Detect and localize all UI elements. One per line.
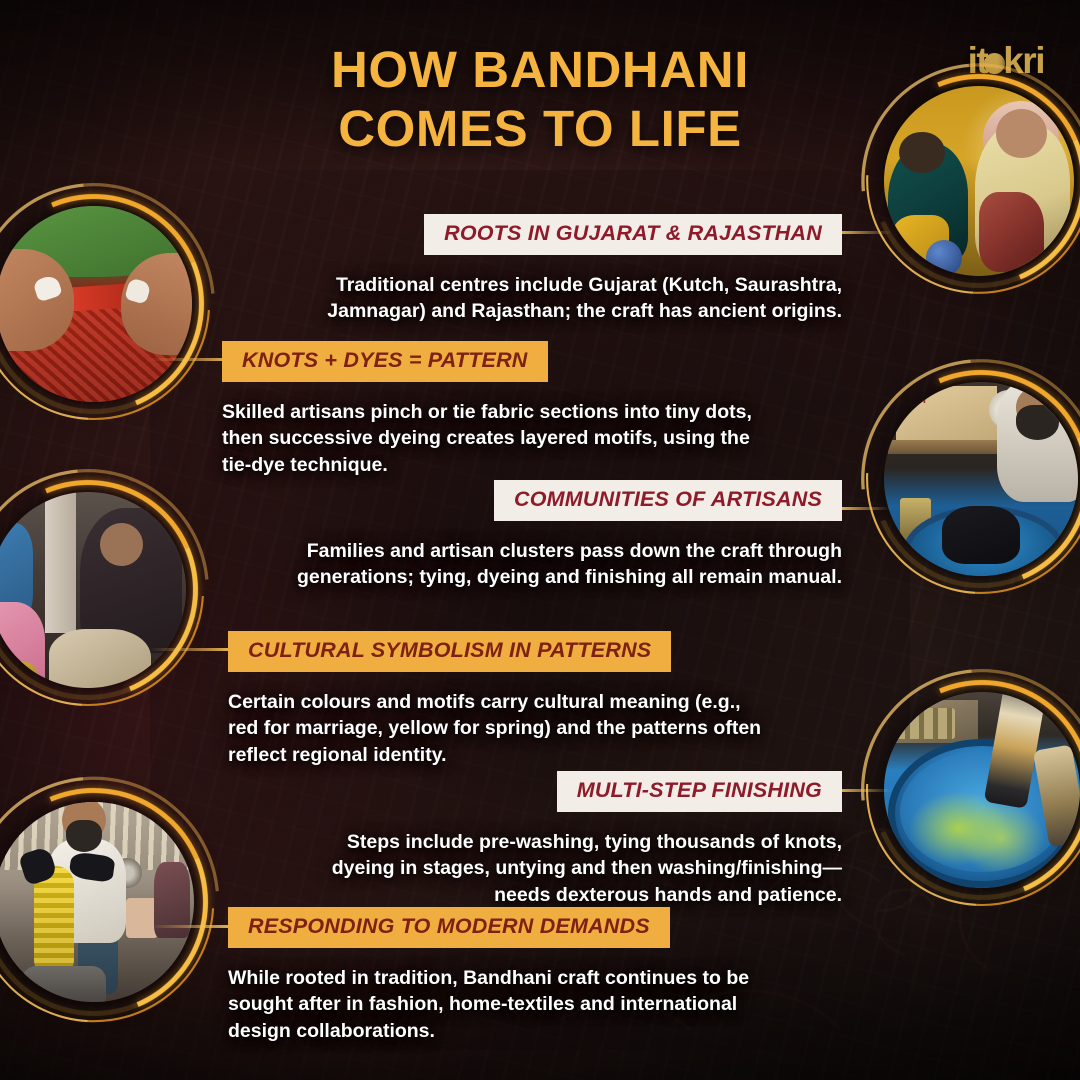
section-body-knots-dyes: Skilled artisans pinch or tie fabric sec… [222, 399, 762, 479]
connector-line-roots [836, 231, 892, 234]
brand-logo-text-after: kri [1003, 40, 1044, 81]
section-body-symbolism: Certain colours and motifs carry cultura… [228, 689, 768, 769]
section-body-communities: Families and artisan clusters pass down … [244, 538, 842, 591]
brand-logo[interactable]: itkri [968, 40, 1044, 82]
connector-line-knots [150, 358, 232, 361]
photo-man-blue-dye-tub: J. Y [884, 382, 1078, 576]
photo-women-tying-yellow [884, 86, 1074, 276]
photo-hands-tying-red [0, 206, 192, 402]
section-body-finishing: Steps include pre-washing, tying thousan… [300, 829, 842, 909]
section-body-roots: Traditional centres include Gujarat (Kut… [276, 272, 842, 325]
connector-line-symbolism [150, 648, 232, 651]
section-badge-finishing[interactable]: MULTI-STEP FINISHING [557, 771, 842, 812]
photo-man-dyeing-yellow [0, 802, 194, 1002]
photo-blue-dye-vat [884, 692, 1080, 888]
section-roots: ROOTS IN GUJARAT & RAJASTHAN Traditional… [276, 214, 842, 325]
section-finishing: MULTI-STEP FINISHING Steps include pre-w… [300, 771, 842, 908]
connector-line-modern [150, 925, 232, 928]
section-badge-modern-demands[interactable]: RESPONDING TO MODERN DEMANDS [228, 907, 670, 948]
section-body-modern-demands: While rooted in tradition, Bandhani craf… [228, 965, 788, 1045]
section-badge-roots[interactable]: ROOTS IN GUJARAT & RAJASTHAN [424, 214, 842, 255]
connector-line-communities [838, 507, 890, 510]
section-modern-demands: RESPONDING TO MODERN DEMANDS While roote… [228, 907, 788, 1044]
photo-signage-text: J. Y [906, 394, 929, 406]
photo-women-artisans [0, 492, 186, 688]
section-knots-dyes: KNOTS + DYES = PATTERN Skilled artisans … [222, 341, 762, 478]
connector-line-finishing [836, 789, 892, 792]
section-communities: COMMUNITIES OF ARTISANS Families and art… [244, 480, 842, 591]
infographic-poster: HOW BANDHANI COMES TO LIFE itkri [0, 0, 1080, 1080]
section-badge-knots-dyes[interactable]: KNOTS + DYES = PATTERN [222, 341, 548, 382]
section-badge-communities[interactable]: COMMUNITIES OF ARTISANS [494, 480, 842, 521]
section-badge-symbolism[interactable]: CULTURAL SYMBOLISM IN PATTERNS [228, 631, 671, 672]
section-symbolism: CULTURAL SYMBOLISM IN PATTERNS Certain c… [228, 631, 768, 768]
